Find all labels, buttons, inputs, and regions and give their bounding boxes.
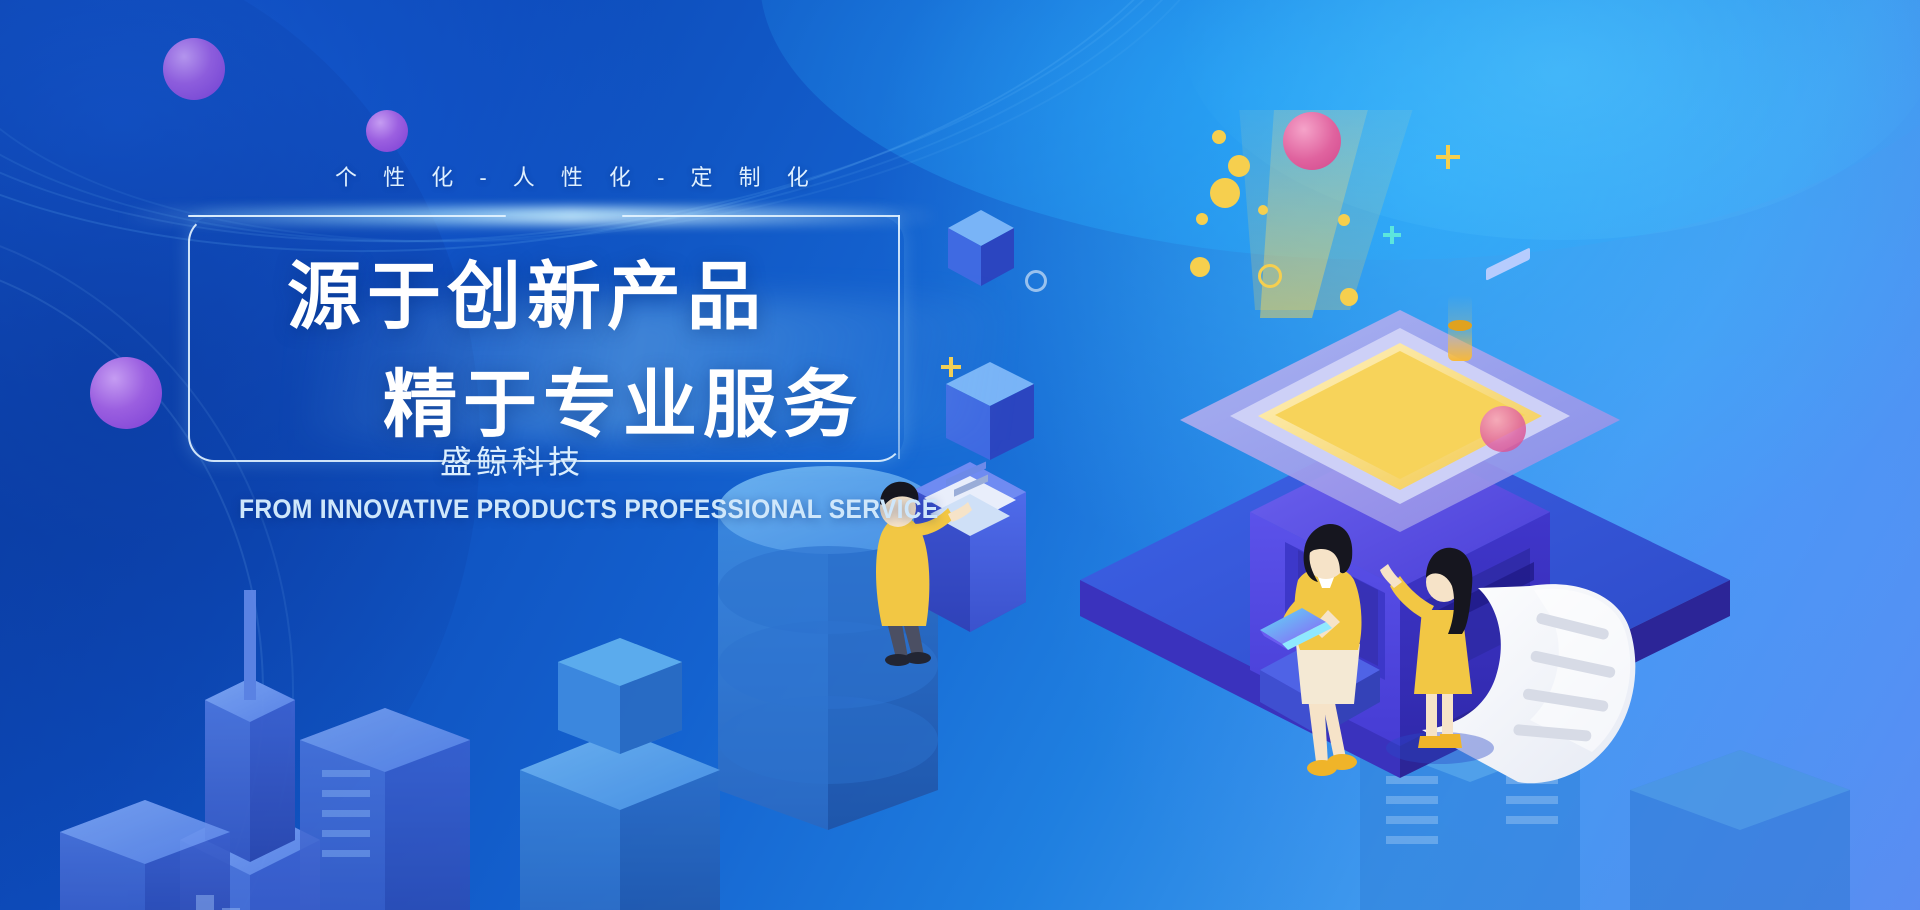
- sphere-purple-small: [366, 110, 408, 152]
- plus-icon-cyan: [1383, 226, 1401, 244]
- yellow-dot-4: [1196, 213, 1208, 225]
- company-name: 盛鲸科技: [440, 437, 584, 483]
- sphere-purple-top: [163, 38, 225, 100]
- english-subtitle: FROM INNOVATIVE PRODUCTS PROFESSIONAL SE…: [239, 494, 939, 525]
- figure-man-kiosk: [850, 440, 1080, 670]
- headline-line-1: 源于创新产品: [287, 237, 767, 344]
- white-ring-1: [1025, 270, 1047, 292]
- headline-line-2: 精于专业服务: [383, 345, 863, 452]
- yellow-tube-cap: [1448, 320, 1472, 331]
- yellow-dot-6: [1338, 214, 1350, 226]
- frame-top-right-segment: [622, 215, 900, 217]
- yellow-dot-1: [1212, 130, 1226, 144]
- plus-icon-2: [1436, 145, 1460, 169]
- hero-banner: 个 性 化 - 人 性 化 - 定 制 化 源于创新产品 精于专业服务 盛鲸科技…: [0, 0, 1920, 910]
- yellow-dot-3: [1210, 178, 1240, 208]
- yellow-dot-2: [1228, 155, 1250, 177]
- sphere-pink-mid: [1480, 406, 1526, 452]
- yellow-dot-7: [1340, 288, 1358, 306]
- yellow-dot-5: [1190, 257, 1210, 277]
- yellow-ring-1: [1258, 264, 1282, 288]
- frame-top-left-segment: [188, 215, 506, 217]
- sphere-purple-left: [90, 357, 162, 429]
- yellow-dot-8: [1258, 205, 1268, 215]
- floating-cube-small: [948, 210, 1014, 286]
- banner-tagline: 个 性 化 - 人 性 化 - 定 制 化: [335, 160, 895, 192]
- sphere-pink-top: [1283, 112, 1341, 170]
